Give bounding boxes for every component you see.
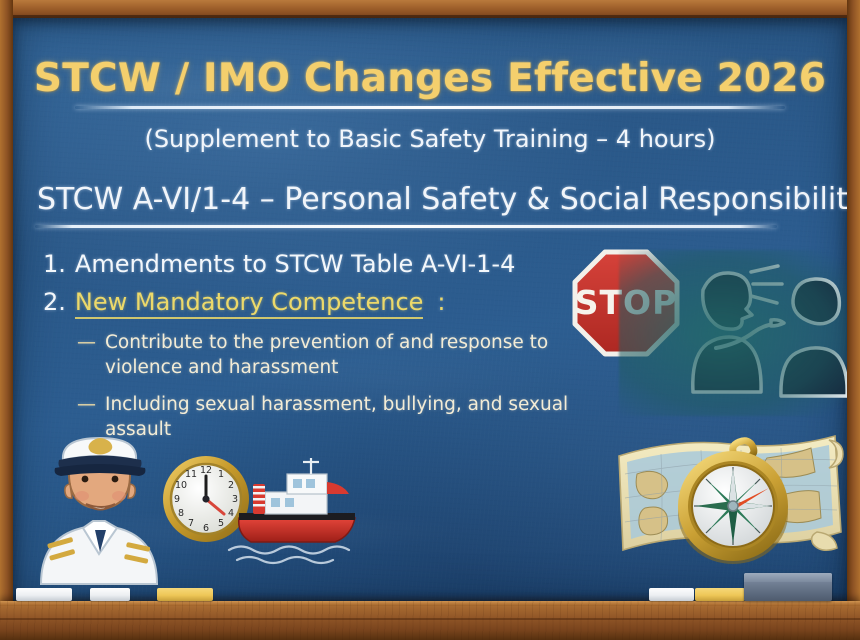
sub-list-item: — Including sexual harassment, bullying,… <box>77 393 603 442</box>
world-map-scroll-icon <box>619 436 843 550</box>
chalkboard-surface: STCW / IMO Changes Effective 2026 (Suppl… <box>13 18 847 601</box>
svg-text:6: 6 <box>203 523 209 534</box>
list-item: 2. New Mandatory Competence : <box>43 288 603 319</box>
chalk-stick[interactable] <box>16 588 72 601</box>
chalk-stick[interactable] <box>157 588 213 601</box>
sub-bullet-list: — Contribute to the prevention of and re… <box>43 331 603 442</box>
chalk-stick[interactable] <box>649 588 694 601</box>
victim-figure-icon <box>781 279 847 396</box>
title-underline <box>75 106 785 109</box>
svg-text:5: 5 <box>218 518 224 529</box>
aggressor-figure-icon <box>693 273 784 392</box>
list-item: 1. Amendments to STCW Table A-VI-1-4 <box>43 250 603 278</box>
list-item-number: 2. <box>43 288 66 316</box>
board-eraser[interactable] <box>744 573 832 601</box>
svg-text:10: 10 <box>175 480 187 491</box>
frame-top-edge <box>0 0 860 18</box>
tugboat-icon <box>229 458 355 563</box>
svg-text:1: 1 <box>218 469 224 480</box>
chalkboard-frame: STCW / IMO Changes Effective 2026 (Suppl… <box>0 0 860 640</box>
chalk-stick[interactable] <box>90 588 130 601</box>
svg-text:8: 8 <box>178 508 184 519</box>
svg-text:11: 11 <box>185 469 197 480</box>
navigation-scene-svg <box>601 422 847 582</box>
sub-list-item: — Contribute to the prevention of and re… <box>77 331 603 380</box>
ship-captain-icon <box>41 438 157 584</box>
teal-chalk-patch <box>619 250 847 416</box>
frame-left-edge <box>0 0 13 640</box>
compass-icon <box>678 441 788 564</box>
ledge-wood-grain <box>0 601 860 640</box>
page-subtitle: (Supplement to Basic Safety Training – 4… <box>13 125 847 153</box>
section-underline <box>35 225 777 228</box>
svg-text:4: 4 <box>228 508 234 519</box>
svg-text:12: 12 <box>200 465 212 476</box>
frame-right-edge <box>847 0 860 640</box>
wall-clock-icon: 121 23 45 67 89 1011 <box>163 456 249 542</box>
compass-rose-icon <box>695 468 771 544</box>
sub-list-item-label: Contribute to the prevention of and resp… <box>105 331 603 380</box>
shout-lines-icon <box>751 266 782 303</box>
list-item-label: New Mandatory Competence <box>75 288 424 319</box>
chalk-ledge <box>0 601 860 640</box>
em-dash-icon: — <box>77 393 96 417</box>
list-item-colon: : <box>437 288 445 316</box>
svg-text:3: 3 <box>232 494 238 505</box>
chalk-stick[interactable] <box>695 588 745 601</box>
svg-text:9: 9 <box>174 494 180 505</box>
list-item-number: 1. <box>43 250 66 278</box>
page-title: STCW / IMO Changes Effective 2026 <box>13 56 847 101</box>
section-heading: STCW A-VI/1-4 – Personal Safety & Social… <box>37 182 847 217</box>
svg-text:7: 7 <box>188 518 194 529</box>
map-and-compass-illustration <box>601 422 847 582</box>
list-item-label: Amendments to STCW Table A-VI-1-4 <box>75 250 515 278</box>
eraser-top-face <box>744 573 832 582</box>
sub-list-item-label: Including sexual harassment, bullying, a… <box>105 393 603 442</box>
em-dash-icon: — <box>77 331 96 355</box>
bullet-list: 1. Amendments to STCW Table A-VI-1-4 2. … <box>43 250 603 455</box>
svg-text:2: 2 <box>228 480 234 491</box>
